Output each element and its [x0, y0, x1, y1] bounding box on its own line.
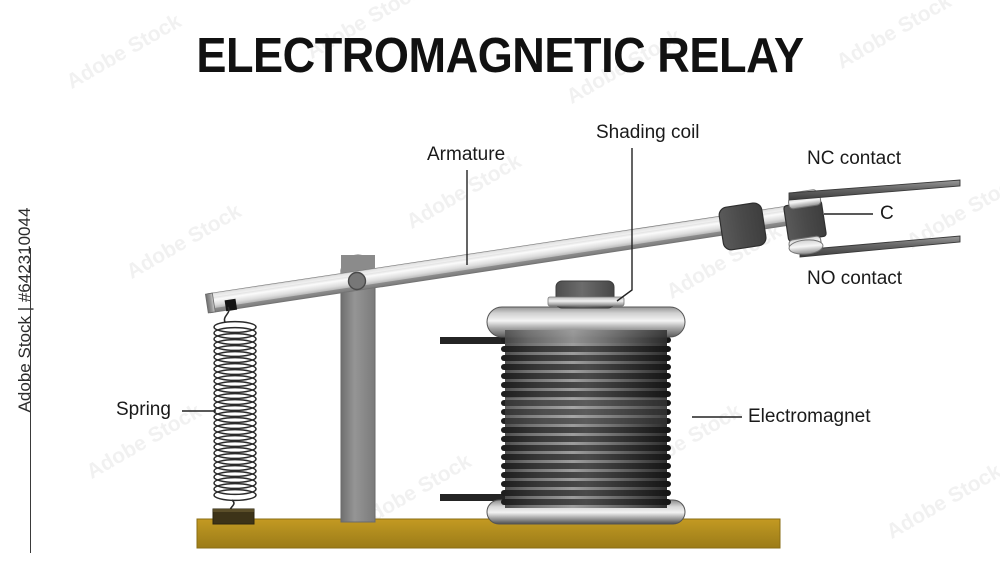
label-electromagnet: Electromagnet: [748, 406, 871, 428]
electromagnet: [440, 307, 685, 524]
armature: [205, 204, 803, 314]
diagram-canvas: Adobe Stock Adobe Stock Adobe Stock Adob…: [0, 0, 1000, 571]
label-no-contact: NO contact: [807, 268, 902, 290]
label-armature: Armature: [427, 144, 505, 166]
no-contact-arm: [800, 236, 960, 257]
label-c-contact: C: [880, 203, 894, 225]
spring-attachment-tab: [225, 299, 238, 312]
leader-shading-coil: [617, 148, 632, 301]
contact-assembly: [718, 180, 960, 257]
pivot-post: [341, 255, 375, 522]
base-board: [197, 519, 780, 548]
label-shading-coil: Shading coil: [596, 122, 700, 144]
label-nc-contact: NC contact: [807, 148, 901, 170]
spring: [214, 307, 256, 513]
label-spring: Spring: [116, 399, 171, 421]
shading-coil: [548, 281, 624, 308]
armature-weight-block: [718, 202, 767, 251]
spring-anchor: [213, 509, 254, 524]
pivot-pin: [349, 273, 366, 290]
